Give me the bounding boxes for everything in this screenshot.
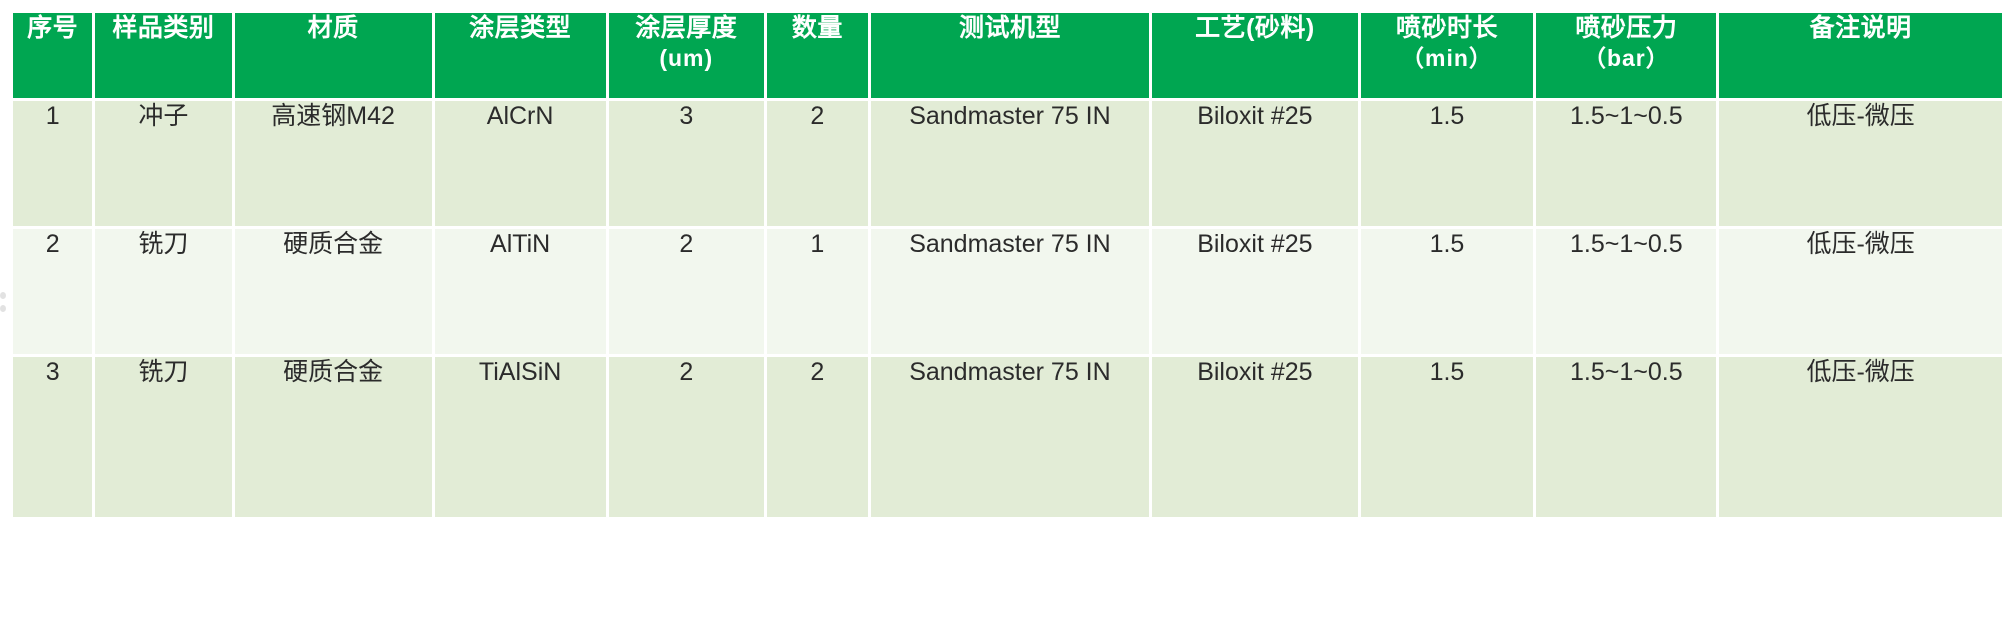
cell-time[interactable]: 1.5	[1361, 101, 1534, 226]
cell-thickness[interactable]: 2	[609, 357, 765, 517]
cell-remark[interactable]: 低压-微压	[1719, 229, 2002, 354]
cell-remark[interactable]: 低压-微压	[1719, 357, 2002, 517]
column-header-pressure-unit: （bar）	[1536, 44, 1716, 72]
cell-index[interactable]: 1	[13, 101, 92, 226]
cell-pressure[interactable]: 1.5~1~0.5	[1536, 357, 1716, 517]
cell-thickness[interactable]: 3	[609, 101, 765, 226]
cell-index[interactable]: 3	[13, 357, 92, 517]
column-header-process-label: 工艺(砂料)	[1195, 14, 1315, 42]
column-header-machine[interactable]: 测试机型	[871, 13, 1150, 98]
cell-category[interactable]: 冲子	[95, 101, 231, 226]
cell-process[interactable]: Biloxit #25	[1152, 229, 1357, 354]
cell-material[interactable]: 高速钢M42	[235, 101, 432, 226]
column-header-thickness-label: 涂层厚度	[635, 14, 737, 42]
column-header-index-label: 序号	[27, 14, 78, 42]
column-header-material-label: 材质	[308, 14, 359, 42]
cell-coating[interactable]: AlCrN	[435, 101, 606, 226]
cell-process[interactable]: Biloxit #25	[1152, 357, 1357, 517]
column-header-coating[interactable]: 涂层类型	[435, 13, 606, 98]
column-header-index[interactable]: 序号	[13, 13, 92, 98]
row-handle-artifact-lower	[0, 305, 6, 312]
cell-material[interactable]: 硬质合金	[235, 229, 432, 354]
column-header-process[interactable]: 工艺(砂料)	[1152, 13, 1357, 98]
cell-machine[interactable]: Sandmaster 75 IN	[871, 229, 1150, 354]
cell-quantity[interactable]: 1	[767, 229, 868, 354]
cell-quantity[interactable]: 2	[767, 357, 868, 517]
column-header-coating-label: 涂层类型	[469, 14, 571, 42]
cell-thickness[interactable]: 2	[609, 229, 765, 354]
cell-time[interactable]: 1.5	[1361, 357, 1534, 517]
header-row: 序号 样品类别 材质 涂层类型 涂层厚度 (um) 数量	[13, 13, 2002, 98]
cell-machine[interactable]: Sandmaster 75 IN	[871, 101, 1150, 226]
table-row[interactable]: 2 铣刀 硬质合金 AlTiN 2 1 Sandmaster 75 IN Bil…	[13, 229, 2002, 354]
spreadsheet-canvas: 序号 样品类别 材质 涂层类型 涂层厚度 (um) 数量	[0, 0, 2015, 637]
cell-category[interactable]: 铣刀	[95, 229, 231, 354]
column-header-thickness[interactable]: 涂层厚度 (um)	[609, 13, 765, 98]
table-row[interactable]: 1 冲子 高速钢M42 AlCrN 3 2 Sandmaster 75 IN B…	[13, 101, 2002, 226]
column-header-pressure[interactable]: 喷砂压力 （bar）	[1536, 13, 1716, 98]
cell-process[interactable]: Biloxit #25	[1152, 101, 1357, 226]
column-header-category[interactable]: 样品类别	[95, 13, 231, 98]
cell-index[interactable]: 2	[13, 229, 92, 354]
column-header-machine-label: 测试机型	[959, 14, 1061, 42]
cell-time[interactable]: 1.5	[1361, 229, 1534, 354]
table-header: 序号 样品类别 材质 涂层类型 涂层厚度 (um) 数量	[13, 13, 2002, 98]
cell-material[interactable]: 硬质合金	[235, 357, 432, 517]
sample-test-table: 序号 样品类别 材质 涂层类型 涂层厚度 (um) 数量	[10, 10, 2005, 520]
column-header-time-unit: （min）	[1361, 44, 1534, 72]
column-header-category-label: 样品类别	[112, 14, 214, 42]
column-header-material[interactable]: 材质	[235, 13, 432, 98]
column-header-remark[interactable]: 备注说明	[1719, 13, 2002, 98]
cell-category[interactable]: 铣刀	[95, 357, 231, 517]
column-header-quantity[interactable]: 数量	[767, 13, 868, 98]
table-body: 1 冲子 高速钢M42 AlCrN 3 2 Sandmaster 75 IN B…	[13, 101, 2002, 517]
column-header-pressure-label: 喷砂压力	[1575, 14, 1677, 42]
column-header-time-label: 喷砂时长	[1396, 14, 1498, 42]
cell-pressure[interactable]: 1.5~1~0.5	[1536, 229, 1716, 354]
column-header-time[interactable]: 喷砂时长 （min）	[1361, 13, 1534, 98]
row-handle-artifact-upper	[0, 292, 6, 299]
cell-machine[interactable]: Sandmaster 75 IN	[871, 357, 1150, 517]
column-header-quantity-label: 数量	[792, 14, 843, 42]
column-header-thickness-unit: (um)	[609, 44, 765, 72]
cell-coating[interactable]: TiAlSiN	[435, 357, 606, 517]
table-row[interactable]: 3 铣刀 硬质合金 TiAlSiN 2 2 Sandmaster 75 IN B…	[13, 357, 2002, 517]
column-header-remark-label: 备注说明	[1810, 14, 1912, 42]
cell-coating[interactable]: AlTiN	[435, 229, 606, 354]
cell-remark[interactable]: 低压-微压	[1719, 101, 2002, 226]
cell-quantity[interactable]: 2	[767, 101, 868, 226]
cell-pressure[interactable]: 1.5~1~0.5	[1536, 101, 1716, 226]
